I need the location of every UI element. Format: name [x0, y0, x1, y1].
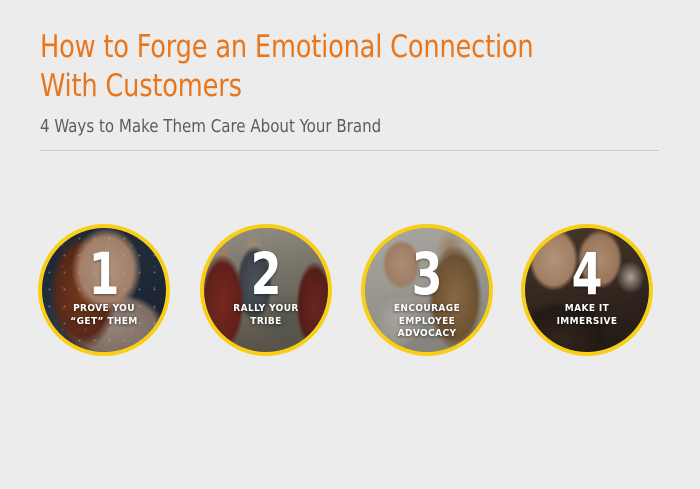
slide-canvas: How to Forge an Emotional Connection Wit…: [0, 0, 700, 489]
step-ring-4: 4 MAKE IT IMMERSIVE: [521, 224, 653, 356]
page-subtitle: 4 Ways to Make Them Care About Your Bran…: [40, 116, 617, 138]
step-number-2: 2: [251, 248, 281, 300]
header-divider: [40, 150, 659, 151]
step-ring-1: 1 PROVE YOU “GET” THEM: [38, 224, 170, 356]
step-item-4[interactable]: 4 MAKE IT IMMERSIVE: [521, 224, 653, 356]
step-item-3[interactable]: 3 ENCOURAGE EMPLOYEE ADVOCACY: [361, 224, 493, 356]
steps-row: 1 PROVE YOU “GET” THEM 2 RALLY YOUR TRIB…: [0, 224, 700, 360]
step-item-1[interactable]: 1 PROVE YOU “GET” THEM: [38, 224, 170, 356]
step-content-3: 3 ENCOURAGE EMPLOYEE ADVOCACY: [365, 228, 489, 352]
page-title: How to Forge an Emotional Connection Wit…: [40, 28, 610, 106]
step-ring-3: 3 ENCOURAGE EMPLOYEE ADVOCACY: [361, 224, 493, 356]
step-number-3: 3: [412, 248, 442, 300]
step-content-1: 1 PROVE YOU “GET” THEM: [42, 228, 166, 352]
step-caption-3: ENCOURAGE EMPLOYEE ADVOCACY: [388, 303, 466, 341]
step-item-2[interactable]: 2 RALLY YOUR TRIBE: [200, 224, 332, 356]
step-number-4: 4: [572, 248, 602, 300]
slide-header: How to Forge an Emotional Connection Wit…: [40, 28, 660, 138]
step-ring-2: 2 RALLY YOUR TRIBE: [200, 224, 332, 356]
step-number-1: 1: [89, 248, 119, 300]
step-content-2: 2 RALLY YOUR TRIBE: [204, 228, 328, 352]
step-content-4: 4 MAKE IT IMMERSIVE: [525, 228, 649, 352]
